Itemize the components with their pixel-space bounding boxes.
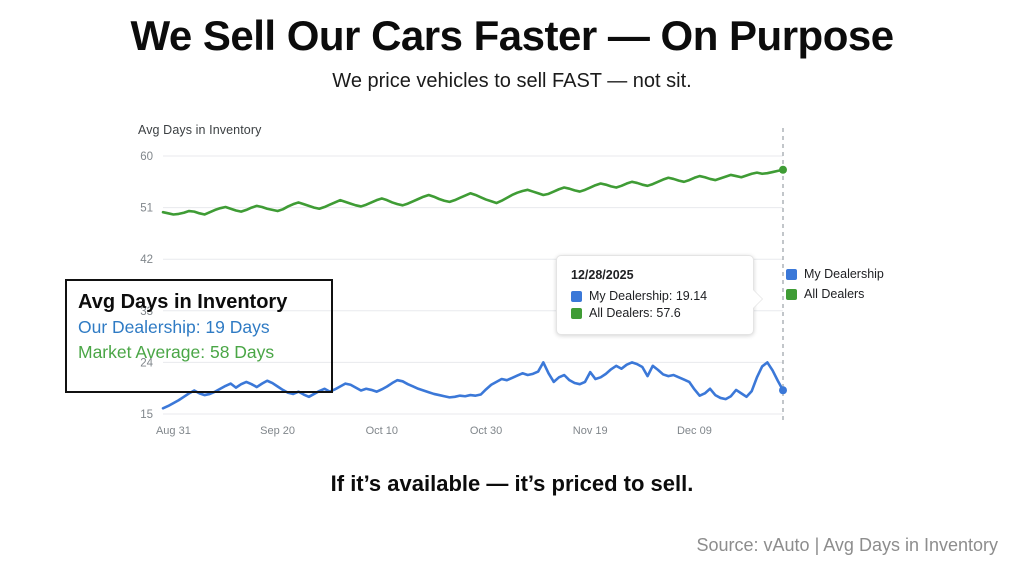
x-axis-tick-label: Dec 09 xyxy=(677,425,712,437)
x-axis-tick-label: Oct 30 xyxy=(470,425,502,437)
tooltip-row-my-dealership: My Dealership: 19.14 xyxy=(571,289,739,303)
data-point-marker-all-dealers xyxy=(779,166,787,174)
tooltip-label-my-dealership: My Dealership: 19.14 xyxy=(589,289,707,303)
legend-label-my-dealership: My Dealership xyxy=(804,267,884,281)
x-axis-tick-label: Oct 10 xyxy=(366,425,398,437)
data-point-marker-my-dealership xyxy=(779,386,787,394)
legend-item-all-dealers[interactable]: All Dealers xyxy=(786,284,884,304)
legend-item-my-dealership[interactable]: My Dealership xyxy=(786,264,884,284)
y-axis-tick-label: 15 xyxy=(140,409,153,421)
callout-our-dealership: Our Dealership: 19 Days xyxy=(78,315,331,340)
page-title: We Sell Our Cars Faster — On Purpose xyxy=(0,14,1024,58)
page-subtitle: We price vehicles to sell FAST — not sit… xyxy=(0,70,1024,93)
tooltip-swatch-my-dealership xyxy=(571,291,582,302)
tooltip-label-all-dealers: All Dealers: 57.6 xyxy=(589,306,681,320)
legend-swatch-my-dealership xyxy=(786,269,797,280)
tooltip-arrow-icon xyxy=(753,290,762,308)
source-credit: Source: vAuto | Avg Days in Inventory xyxy=(697,535,999,556)
y-axis-tick-label: 51 xyxy=(140,203,153,215)
tooltip-swatch-all-dealers xyxy=(571,308,582,319)
y-axis-tick-label: 42 xyxy=(140,254,153,266)
chart-container: Avg Days in Inventory 605142332415Aug 31… xyxy=(0,112,1024,457)
callout-title: Avg Days in Inventory xyxy=(78,290,331,315)
callout-market-average: Market Average: 58 Days xyxy=(78,340,331,365)
chart-tooltip: 12/28/2025 My Dealership: 19.14 All Deal… xyxy=(556,255,754,335)
legend-swatch-all-dealers xyxy=(786,289,797,300)
tooltip-row-all-dealers: All Dealers: 57.6 xyxy=(571,306,739,320)
x-axis-tick-label: Sep 20 xyxy=(260,425,295,437)
x-axis-tick-label: Nov 19 xyxy=(573,425,608,437)
x-axis-tick-label: Aug 31 xyxy=(156,425,191,437)
tooltip-date: 12/28/2025 xyxy=(571,268,739,282)
annotation-callout-box: Avg Days in Inventory Our Dealership: 19… xyxy=(65,279,333,393)
chart-legend: My Dealership All Dealers xyxy=(786,264,884,304)
legend-label-all-dealers: All Dealers xyxy=(804,287,864,301)
y-axis-tick-label: 60 xyxy=(140,151,153,163)
footer-kicker: If it’s available — it’s priced to sell. xyxy=(0,471,1024,497)
